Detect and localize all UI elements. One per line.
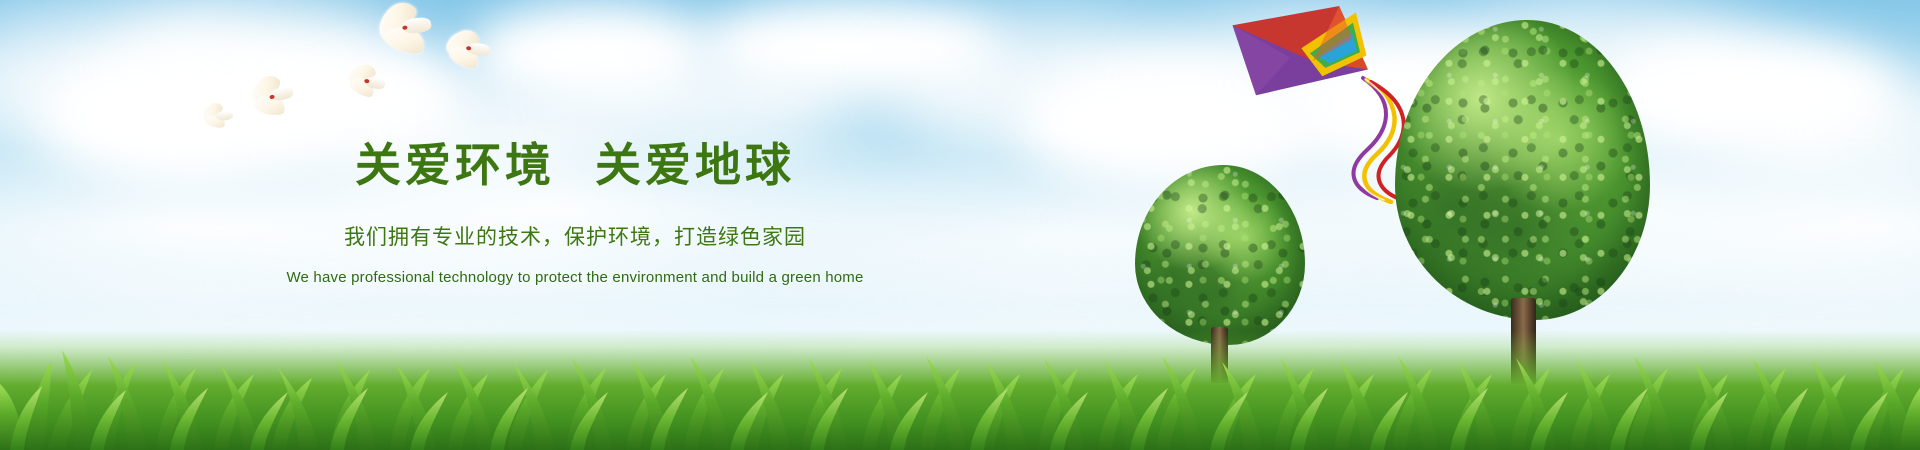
dove-icon [438,27,494,72]
tree-large [1395,20,1650,380]
dove-icon [199,102,238,134]
dove-icon [341,62,390,103]
hero-banner: 关爱环境 关爱地球 我们拥有专业的技术，保护环境，打造绿色家园 We have … [0,0,1920,450]
dove-icon [367,2,440,63]
